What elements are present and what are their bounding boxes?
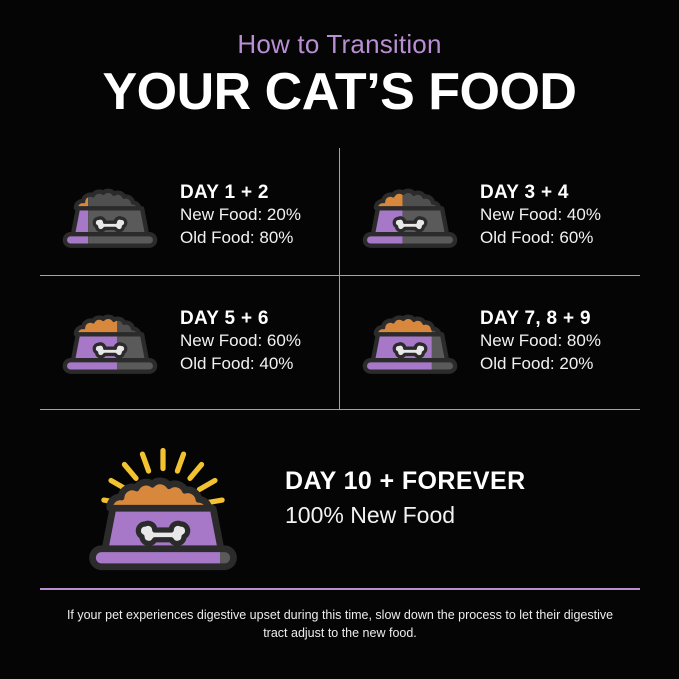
bowl-icon-container (40, 179, 180, 251)
bowl-icon-container (40, 305, 180, 377)
final-step-text: DAY 10 + FOREVER 100% New Food (285, 466, 640, 535)
step-old-food: Old Food: 40% (180, 353, 340, 375)
step-card: DAY 1 + 2 New Food: 20% Old Food: 80% (40, 155, 340, 275)
step-day-label: DAY 3 + 4 (480, 181, 640, 205)
page-title: YOUR CAT’S FOOD (0, 65, 679, 120)
final-step-card: DAY 10 + FOREVER 100% New Food (40, 425, 640, 575)
step-new-food: New Food: 20% (180, 204, 340, 226)
step-day-label: DAY 1 + 2 (180, 181, 340, 205)
step-card: DAY 5 + 6 New Food: 60% Old Food: 40% (40, 281, 340, 401)
step-old-food: Old Food: 60% (480, 227, 640, 249)
header-subtitle: How to Transition (0, 30, 679, 59)
bowl-icon-container (340, 179, 480, 251)
step-text: DAY 1 + 2 New Food: 20% Old Food: 80% (180, 181, 340, 250)
sparkling-pet-food-bowl-icon (88, 425, 238, 575)
step-old-food: Old Food: 20% (480, 353, 640, 375)
footnote-divider (40, 588, 640, 590)
transition-steps-grid: DAY 1 + 2 New Food: 20% Old Food: 80% (40, 155, 640, 410)
final-step-day-label: DAY 10 + FOREVER (285, 466, 640, 497)
step-day-label: DAY 5 + 6 (180, 307, 340, 331)
step-new-food: New Food: 60% (180, 330, 340, 352)
step-new-food: New Food: 80% (480, 330, 640, 352)
sparkling-bowl-icon-container (40, 425, 285, 575)
step-day-label: DAY 7, 8 + 9 (480, 307, 640, 331)
step-text: DAY 5 + 6 New Food: 60% Old Food: 40% (180, 307, 340, 376)
pet-food-bowl-icon (362, 305, 458, 377)
header: How to Transition YOUR CAT’S FOOD (0, 0, 679, 119)
pet-food-bowl-icon (62, 179, 158, 251)
footnote-text: If your pet experiences digestive upset … (60, 606, 620, 642)
final-step-description: 100% New Food (285, 500, 640, 530)
bowl-icon-container (340, 305, 480, 377)
step-text: DAY 7, 8 + 9 New Food: 80% Old Food: 20% (480, 307, 640, 376)
pet-food-bowl-icon (362, 179, 458, 251)
step-text: DAY 3 + 4 New Food: 40% Old Food: 60% (480, 181, 640, 250)
infographic-page: How to Transition YOUR CAT’S FOOD (0, 0, 679, 679)
step-card: DAY 7, 8 + 9 New Food: 80% Old Food: 20% (340, 281, 640, 401)
step-card: DAY 3 + 4 New Food: 40% Old Food: 60% (340, 155, 640, 275)
grid-horizontal-divider-middle (40, 275, 640, 276)
step-new-food: New Food: 40% (480, 204, 640, 226)
step-old-food: Old Food: 80% (180, 227, 340, 249)
grid-horizontal-divider-bottom (40, 409, 640, 410)
pet-food-bowl-icon (62, 305, 158, 377)
